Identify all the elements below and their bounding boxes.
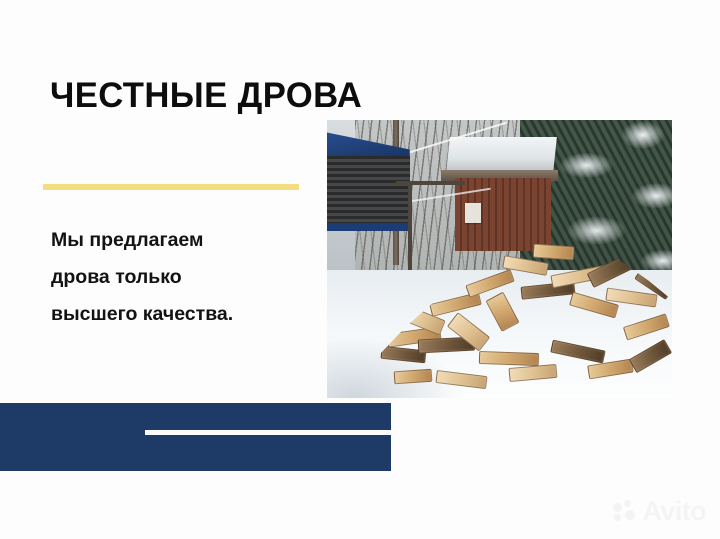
footer-band-rule xyxy=(145,430,391,435)
log xyxy=(587,359,633,380)
canopy-frame-post xyxy=(408,181,412,270)
accent-divider xyxy=(43,184,299,190)
log xyxy=(485,292,519,333)
log xyxy=(466,269,515,297)
avito-watermark: Avito xyxy=(613,498,707,525)
tarp-body xyxy=(327,156,410,228)
page-title: ЧЕСТНЫЕ ДРОВА xyxy=(50,76,387,116)
body-copy: Мы предлагаем дрова только высшего качес… xyxy=(51,222,319,333)
advertisement-slide: ЧЕСТНЫЕ ДРОВА Мы предлагаем дрова только… xyxy=(0,0,720,539)
avito-brand-label: Avito xyxy=(643,498,707,525)
log xyxy=(508,364,557,383)
log xyxy=(435,370,487,389)
body-copy-line-1: Мы предлагаем xyxy=(51,222,319,259)
photo-composition xyxy=(327,120,672,398)
log xyxy=(551,339,606,363)
avito-circles-logo xyxy=(613,500,639,524)
log xyxy=(533,244,575,261)
log xyxy=(629,339,672,374)
canopy-frame-bar xyxy=(396,181,465,185)
snow-covered-roof xyxy=(446,137,557,173)
body-copy-line-3: высшего качества. xyxy=(51,296,319,333)
wall-notice xyxy=(465,203,481,222)
body-copy-line-2: дрова только xyxy=(51,259,319,296)
footer-band xyxy=(0,403,391,471)
log xyxy=(478,351,538,366)
firewood-photo xyxy=(327,120,672,398)
tarp-edge xyxy=(327,223,410,231)
log xyxy=(393,368,432,383)
log xyxy=(623,313,670,340)
